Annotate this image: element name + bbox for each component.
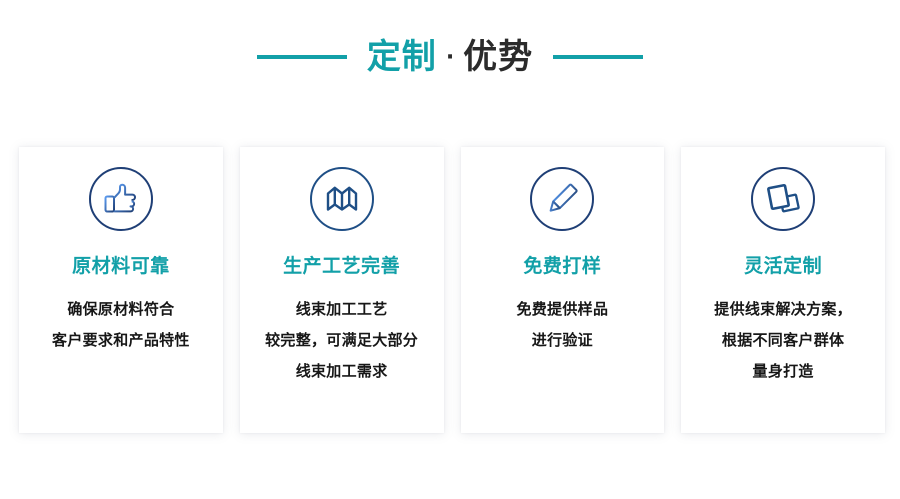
heading-rule-right xyxy=(553,55,643,59)
card-description-line: 量身打造 xyxy=(714,356,852,387)
stacked-cards-icon xyxy=(747,163,819,235)
card-description-line: 确保原材料符合 xyxy=(52,294,190,325)
card-description: 免费提供样品 进行验证 xyxy=(506,294,618,356)
card-title: 原材料可靠 xyxy=(72,255,170,278)
card-description-line: 根据不同客户群体 xyxy=(714,325,852,356)
section-heading: 定制 · 优势 xyxy=(0,26,900,88)
pencil-icon xyxy=(526,163,598,235)
card-description-line: 进行验证 xyxy=(516,325,608,356)
folded-map-icon xyxy=(306,163,378,235)
card-title: 生产工艺完善 xyxy=(283,255,400,278)
card-description-line: 线束加工工艺 xyxy=(265,294,418,325)
card-description-line: 较完整，可满足大部分 xyxy=(265,325,418,356)
card-description: 线束加工工艺 较完整，可满足大部分 线束加工需求 xyxy=(255,294,428,387)
card-description-line: 线束加工需求 xyxy=(265,356,418,387)
heading-rule-left xyxy=(257,55,347,59)
card-description-line: 提供线束解决方案， xyxy=(714,294,852,325)
card-title: 灵活定制 xyxy=(744,255,822,278)
advantage-card[interactable]: 免费打样 免费提供样品 进行验证 xyxy=(461,147,665,433)
advantage-card[interactable]: 灵活定制 提供线束解决方案， 根据不同客户群体 量身打造 xyxy=(681,147,885,433)
heading-accent-text: 定制 xyxy=(367,40,437,74)
heading-main-text: 优势 xyxy=(463,40,533,74)
card-description-line: 免费提供样品 xyxy=(516,294,608,325)
advantage-card[interactable]: 生产工艺完善 线束加工工艺 较完整，可满足大部分 线束加工需求 xyxy=(240,147,444,433)
thumbs-up-icon xyxy=(85,163,157,235)
heading-separator-dot: · xyxy=(437,47,463,69)
card-description: 确保原材料符合 客户要求和产品特性 xyxy=(42,294,200,356)
advantage-card-list: 原材料可靠 确保原材料符合 客户要求和产品特性 生产工艺完善 线束加工工艺 较完… xyxy=(19,147,885,433)
card-title: 免费打样 xyxy=(523,255,601,278)
advantage-card[interactable]: 原材料可靠 确保原材料符合 客户要求和产品特性 xyxy=(19,147,223,433)
card-description: 提供线束解决方案， 根据不同客户群体 量身打造 xyxy=(704,294,862,387)
card-description-line: 客户要求和产品特性 xyxy=(52,325,190,356)
heading-text: 定制 · 优势 xyxy=(367,40,533,74)
